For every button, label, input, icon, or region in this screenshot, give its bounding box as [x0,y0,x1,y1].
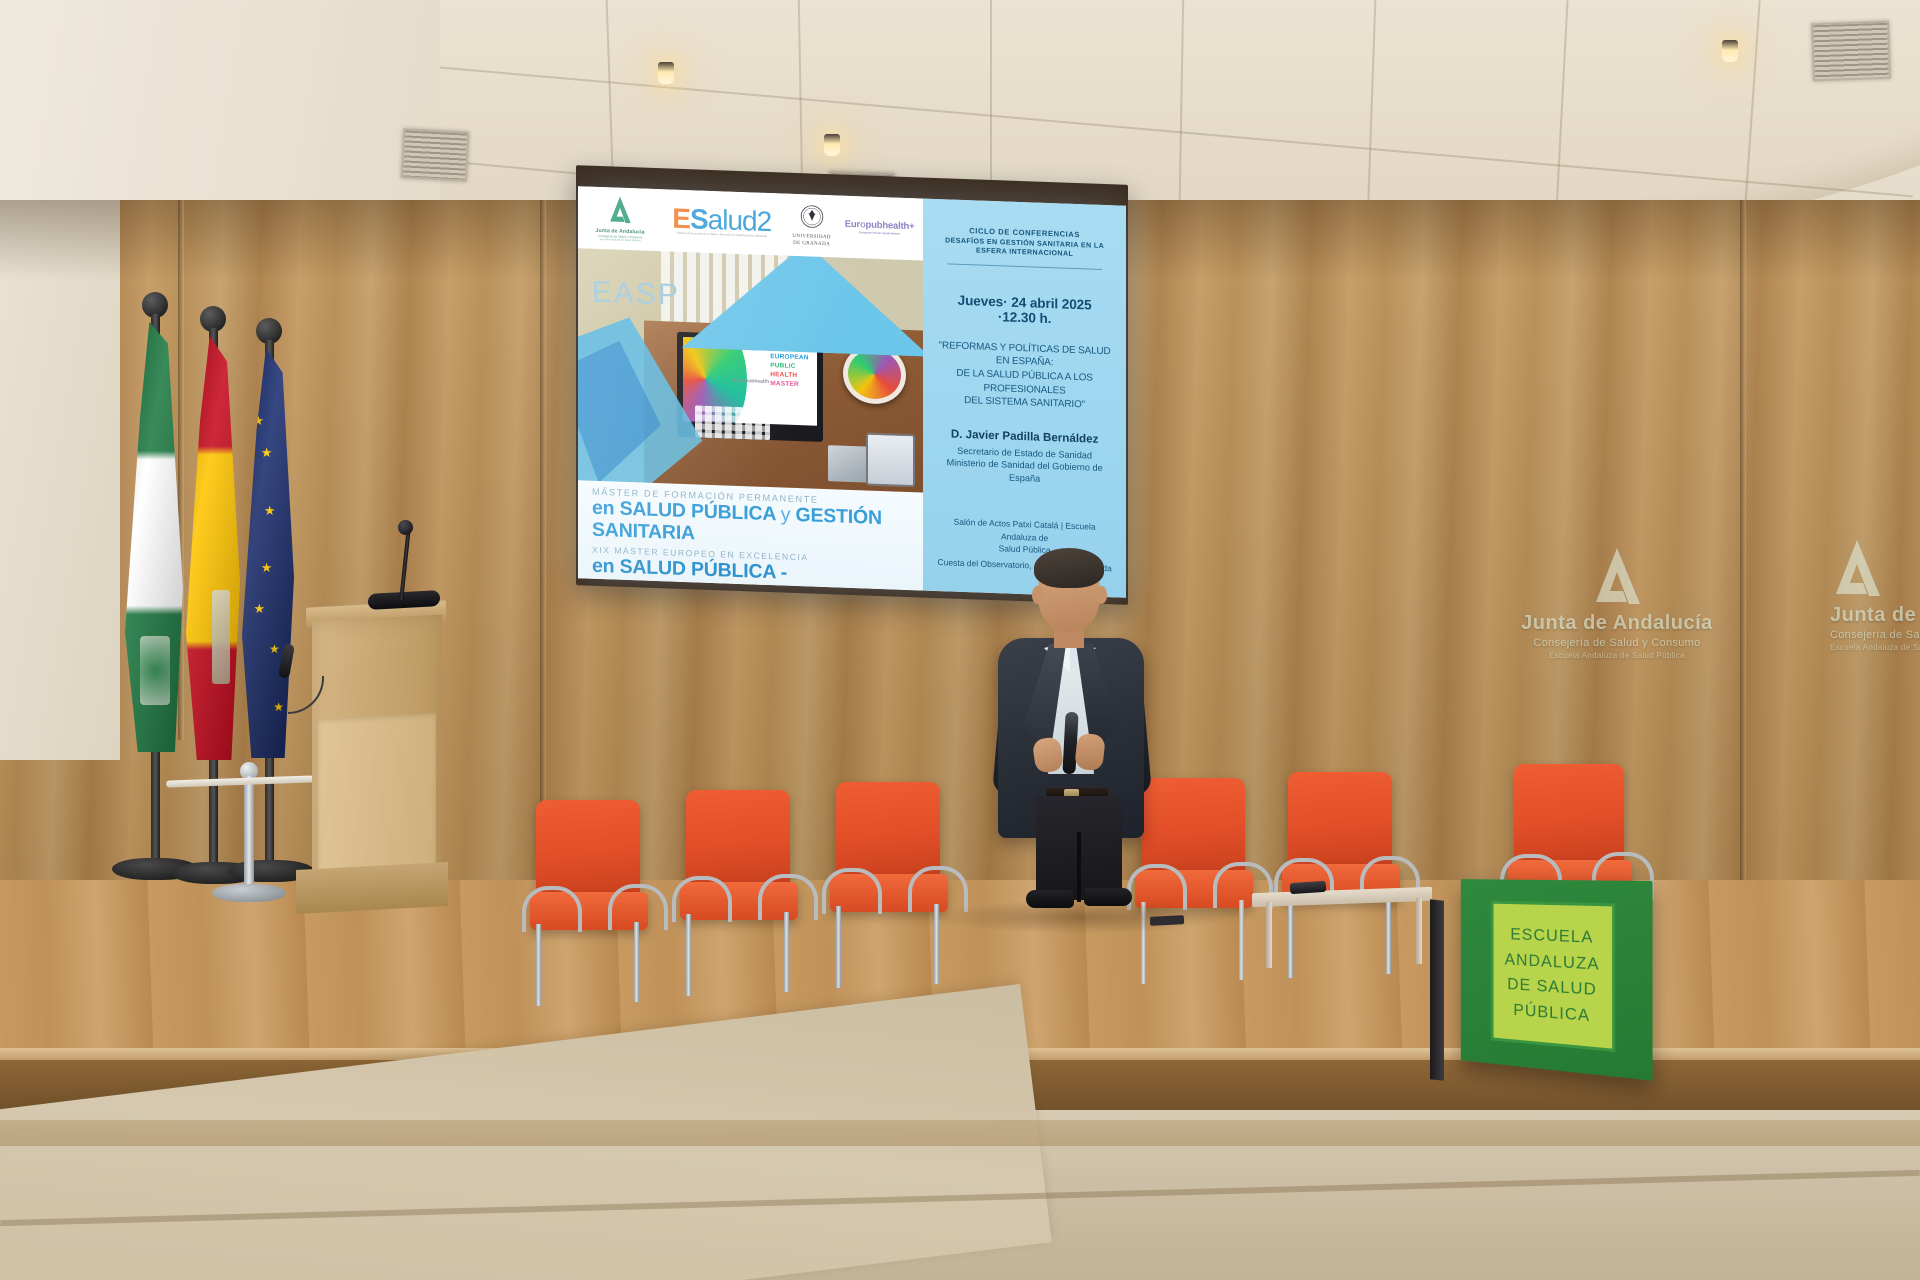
projection-screen: Junta de Andalucía Consejería de Salud y… [578,186,1126,598]
master-line-2b: y [781,503,791,525]
logo-universidad-de-granada: UNIVERSIDAD DE GRANADA [787,204,836,248]
ugr-line-2: DE GRANADA [793,241,830,247]
laptop-keyboard [695,406,771,440]
easp-stage-sign: ESCUELA ANDALUZA DE SALUD PÚBLICA [1461,879,1653,1081]
essalud-mark-s: S [690,203,708,235]
ceiling-spotlight [1722,40,1738,62]
magazine-icon [828,445,867,483]
chair-leg [1239,900,1244,980]
side-table-leg [1416,898,1422,964]
chair-back [1514,764,1624,864]
easp-sign-line-1: ESCUELA [1505,921,1600,950]
lectern-base [296,862,448,914]
essalud-mark-rest: alud2 [708,204,772,237]
speaker-person [960,552,1190,922]
auditorium-photo: Junta de Andalucía Consejería de Salud y… [0,0,1920,1280]
conference-title: "REFORMAS Y POLÍTICAS DE SALUD EN ESPAÑA… [937,339,1112,414]
speaker-shoe-right [1084,888,1132,906]
floor-step [0,1120,1920,1146]
microphone-icon [398,520,413,535]
chair-leg [1386,894,1391,974]
andalusia-a-logo-icon [1492,546,1742,606]
slide-right-column: CICLO DE CONFERENCIAS DESAFÍOS EN GESTIÓ… [923,199,1126,598]
speaker-ear-right [1096,586,1107,604]
slide-logo-bar: Junta de Andalucía Consejería de Salud y… [578,186,923,260]
speaker-name: D. Javier Padilla Bernáldez [937,427,1112,446]
andalusia-a-logo-icon [1830,538,1920,598]
easp-sign-panel: ESCUELA ANDALUZA DE SALUD PÚBLICA [1491,901,1615,1052]
ugr-line-1: UNIVERSIDAD [792,234,831,240]
logo-junta-sub2: Escuela Andaluza de Salud Pública [600,239,641,243]
stanchion-post [244,776,254,896]
left-plaster-wall [0,200,120,760]
chair-armrest [822,868,882,914]
signage-line-3: Escuela Andaluza de Salud Pública [1492,651,1742,660]
eph-name-a: Eur [845,219,860,231]
signage-line-1: Junta de Andalucía [1830,604,1920,627]
signage-line-3: Escuela Andaluza de Salud Pública [1830,643,1920,652]
essalud-wordmark: ESalud2 [672,206,771,235]
wall-panel-seam [540,200,546,900]
conference-details: CICLO DE CONFERENCIAS DESAFÍOS EN GESTIÓ… [923,199,1126,598]
european-public-health-master-text: EUROPEAN PUBLIC HEALTH MASTER [770,353,808,389]
logo-junta-de-andalucia: Junta de Andalucía Consejería de Salud y… [584,194,656,243]
divider [947,263,1102,270]
chair-leg [536,924,541,1006]
easp-sign-text: ESCUELA ANDALUZA DE SALUD PÚBLICA [1505,921,1600,1029]
europubhealth-small-logo: Europubhealth [734,377,769,384]
chair-leg [686,914,691,996]
speaker-ear-left [1032,586,1043,604]
speaker-leg-split [1077,832,1081,902]
andalusia-a-logo-icon [607,195,633,228]
speaker-hair [1034,548,1104,588]
air-vent-icon [1811,21,1891,82]
essalud-mark-e: E [672,203,690,235]
conference-kicker-2: DESAFÍOS EN GESTIÓN SANITARIA EN LA ESFE… [937,236,1112,260]
smartphone-icon [866,433,915,488]
chair-armrest [672,876,732,922]
chair-leg [836,906,841,988]
stanchion-base [212,884,286,902]
wall-signage-junta: Junta de Andalucía Consejería de Salud y… [1492,546,1742,660]
speaker-shoe-left [1026,890,1074,908]
conference-date: Jueves· 24 abril 2025 ·12.30 h. [937,292,1112,328]
chair-back [1288,772,1392,868]
chair-armrest [522,886,582,932]
logo-essalud2: ESalud2 Cátedra de Economía de la Salud … [662,205,781,239]
chair-leg [634,922,639,1002]
chair-back [686,790,790,886]
slide-master-band: MÁSTER DE FORMACIÓN PERMANENTE en SALUD … [578,480,923,590]
chair-leg [784,912,789,992]
chair-back [536,800,640,896]
chair-leg [1288,896,1293,978]
signage-line-1: Junta de Andalucía [1492,612,1742,635]
side-table-leg [1266,902,1272,968]
sign-stand [1430,899,1444,1080]
ephm-line-4: MASTER [770,380,808,390]
essalud-caption: Cátedra de Economía de la Salud y Direcc… [677,233,767,239]
ugr-crest-icon [800,204,824,233]
ceiling-spotlight [658,62,674,84]
signage-line-2: Consejería de Salud y Consumo [1830,629,1920,641]
europubhealth-tagline: European Public Health Master [859,231,900,235]
ceiling-spotlight [824,134,840,156]
slide-left-column: Junta de Andalucía Consejería de Salud y… [578,186,923,590]
slide-photo-collage: EASP Europubhealth EUROPEAN PUBLIC HEALT… [578,244,923,494]
logo-europubhealth: Europubhealth+ European Public Health Ma… [842,220,917,236]
wall-signage-junta-secondary: Junta de Andalucía Consejería de Salud y… [1830,538,1920,652]
speaker-role-2: Ministerio de Sanidad del Gobierno de Es… [937,456,1112,487]
air-vent-icon [401,128,470,181]
signage-line-2: Consejería de Salud y Consumo [1492,637,1742,649]
chair-back [836,782,940,878]
presentation-slide: Junta de Andalucía Consejería de Salud y… [578,186,1126,598]
collage-easp-watermark: EASP [592,276,680,313]
